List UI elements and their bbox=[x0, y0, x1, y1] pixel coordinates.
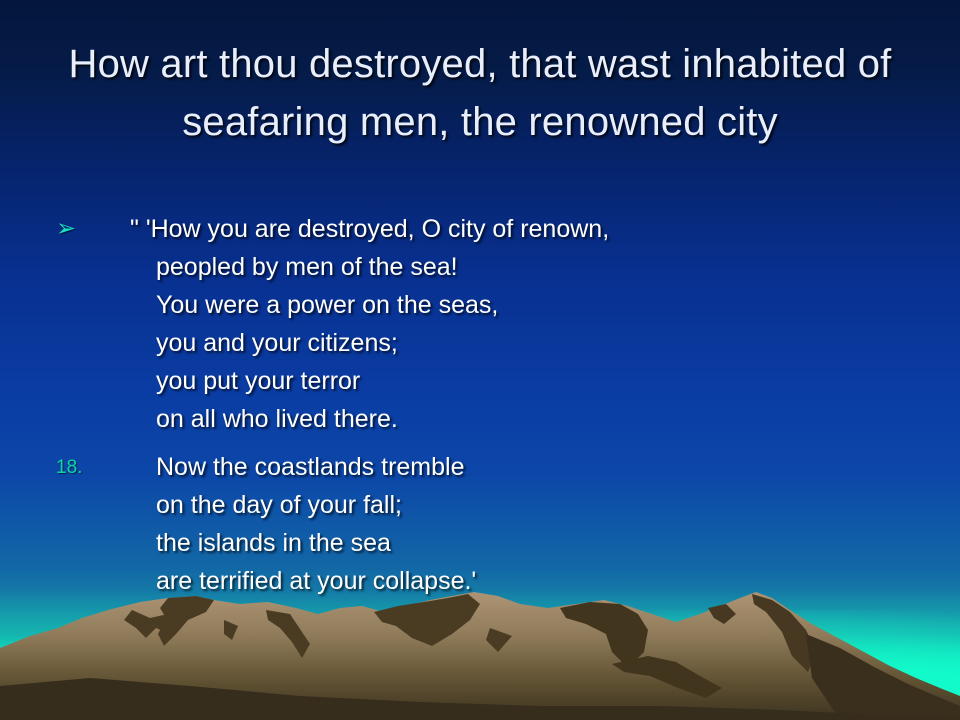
verse-line: You were a power on the seas, bbox=[156, 286, 926, 324]
list-number-18: 18. bbox=[46, 448, 156, 488]
verse-line: Now the coastlands tremble bbox=[156, 448, 926, 486]
verse-line: you put your terror bbox=[156, 362, 926, 400]
slide-body: ➢ " 'How you are destroyed, O city of re… bbox=[46, 210, 926, 610]
verse-line: you and your citizens; bbox=[156, 324, 926, 362]
verse-line: " 'How you are destroyed, O city of reno… bbox=[130, 210, 926, 248]
verse-lines-1: " 'How you are destroyed, O city of reno… bbox=[156, 210, 926, 438]
verse-line: on the day of your fall; bbox=[156, 486, 926, 524]
verse-line: on all who lived there. bbox=[156, 400, 926, 438]
verse-lines-2: Now the coastlands tremble on the day of… bbox=[156, 448, 926, 600]
quote-block-2: 18. Now the coastlands tremble on the da… bbox=[46, 448, 926, 600]
quote-block-1: ➢ " 'How you are destroyed, O city of re… bbox=[46, 210, 926, 438]
verse-line: are terrified at your collapse.' bbox=[156, 562, 926, 600]
slide-title: How art thou destroyed, that wast inhabi… bbox=[40, 35, 920, 151]
verse-line: peopled by men of the sea! bbox=[156, 248, 926, 286]
presentation-slide: How art thou destroyed, that wast inhabi… bbox=[0, 0, 960, 720]
verse-line: the islands in the sea bbox=[156, 524, 926, 562]
